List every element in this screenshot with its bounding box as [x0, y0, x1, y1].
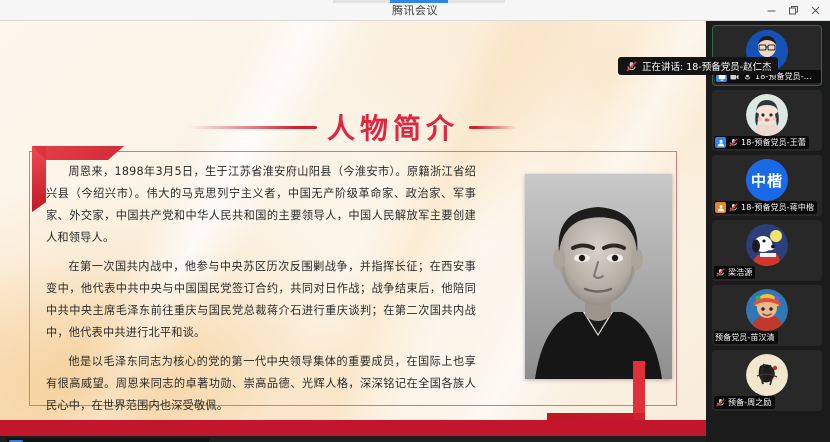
window-controls — [760, 0, 826, 21]
participant-icon — [715, 137, 726, 148]
slide-paragraph: 在第一次国共内战中，他参与中央苏区历次反围剿战争，并指挥长征；在西安事变中，他代… — [46, 256, 476, 344]
avatar: 中楷 — [746, 159, 788, 201]
slide-title-group: 人物简介 — [0, 107, 706, 147]
host-icon — [715, 202, 726, 213]
slide-bottom-red-bar — [0, 420, 706, 436]
participant-tile[interactable]: 梁浩源 — [712, 220, 822, 281]
slide-paragraph: 他是以毛泽东同志为核心的党的第一代中央领导集体的重要成员，在国际上也享有很高威望… — [46, 351, 476, 417]
participant-sidebar[interactable]: 18-预备党员-赵仁... — [706, 21, 830, 442]
slide-title: 人物简介 — [327, 107, 459, 147]
speaking-indicator-label: 正在讲话: 18-预备党员-赵仁杰 — [642, 59, 772, 73]
presentation-slide: 人物简介 — [0, 21, 706, 420]
portrait-photo — [525, 174, 672, 379]
avatar — [746, 354, 788, 396]
titlebar: 腾讯会议 — [0, 0, 830, 21]
microphone-muted-icon — [715, 397, 726, 408]
minimize-button[interactable] — [760, 1, 782, 21]
participant-tile[interactable]: 预备党员-苗汉清 — [712, 285, 822, 346]
avatar-initials: 中楷 — [751, 170, 783, 191]
microphone-muted-icon — [728, 137, 739, 148]
participant-label: 梁浩源 — [714, 266, 755, 279]
microphone-muted-icon — [715, 267, 726, 278]
tencent-meeting-window: 腾讯会议 人物简介 — [0, 0, 830, 442]
window-title: 腾讯会议 — [392, 0, 438, 21]
ribbon-bottom-right-decoration — [545, 361, 657, 420]
close-button[interactable] — [804, 1, 826, 21]
title-rule-left-decoration — [189, 126, 317, 129]
participant-name: 梁浩源 — [728, 267, 752, 278]
participant-name: 18-预备党员-王蕾 — [741, 137, 806, 148]
participant-label: 18-预备党员-王蕾 — [714, 136, 809, 149]
title-rule-right-decoration — [469, 126, 517, 129]
participant-name: 预备-周之励 — [728, 397, 772, 408]
avatar — [746, 289, 788, 331]
avatar — [746, 224, 788, 266]
tab-segment-left — [333, 0, 390, 3]
microphone-muted-icon — [624, 59, 638, 73]
microphone-muted-icon — [728, 202, 739, 213]
participant-tile[interactable]: 18-预备党员-王蕾 — [712, 90, 822, 151]
participant-name: 18-预备党员-蒋中楷 — [741, 202, 814, 213]
shared-screen-stage[interactable]: 人物简介 — [0, 21, 706, 442]
participant-label: 预备-周之励 — [714, 396, 775, 409]
participant-label: 预备党员-苗汉清 — [714, 331, 778, 344]
tab-strip — [333, 0, 505, 3]
participant-name: 预备党员-苗汉清 — [715, 332, 775, 343]
tab-segment-right — [448, 0, 505, 3]
participant-label: 18-预备党员-蒋中楷 — [714, 201, 817, 214]
participant-tile[interactable]: 预备-周之励 — [712, 350, 822, 411]
speaking-indicator-tooltip: 正在讲话: 18-预备党员-赵仁杰 — [618, 57, 778, 75]
screen-share-badge: 18-预备党员-赵仁杰的屏幕共享 — [7, 438, 209, 442]
restore-button[interactable] — [782, 1, 804, 21]
tab-segment-active[interactable] — [390, 0, 447, 3]
participant-tile[interactable]: 中楷 18-预备党员-蒋中楷 — [712, 155, 822, 216]
participant-tile[interactable]: 18-预备党员-赵仁... — [712, 25, 822, 86]
avatar — [746, 94, 788, 136]
